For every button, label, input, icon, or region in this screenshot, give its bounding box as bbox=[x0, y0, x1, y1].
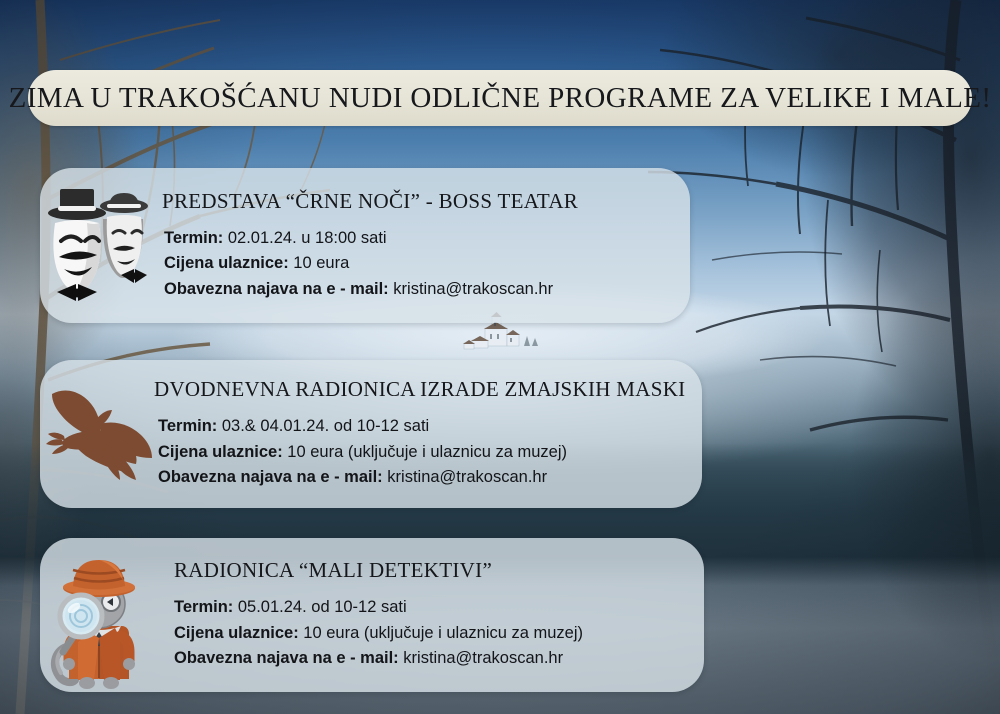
detail-value: 03.& 04.01.24. od 10-12 sati bbox=[222, 417, 429, 435]
detail-label: Cijena ulaznice: bbox=[164, 254, 289, 272]
detail-value: 05.01.24. od 10-12 sati bbox=[238, 598, 407, 616]
poster-title: ZIMA U TRAKOŠĆANU NUDI ODLIČNE PROGRAME … bbox=[9, 82, 992, 115]
program-details: Termin: 03.& 04.01.24. od 10-12 sati Cij… bbox=[158, 414, 686, 491]
detail-label: Obavezna najava na e - mail: bbox=[174, 649, 399, 667]
program-detail-line: Termin: 05.01.24. od 10-12 sati bbox=[174, 595, 688, 621]
theatre-masks-icon bbox=[40, 168, 158, 323]
program-detail-line: Cijena ulaznice: 10 eura bbox=[164, 251, 674, 277]
detective-cat-icon bbox=[40, 538, 158, 692]
program-details: Termin: 05.01.24. od 10-12 sati Cijena u… bbox=[174, 595, 688, 672]
program-detail-line: Cijena ulaznice: 10 eura (uključuje i ul… bbox=[158, 440, 686, 466]
program-card-body: RADIONICA “MALI DETEKTIVI” Termin: 05.01… bbox=[158, 558, 704, 672]
program-card-body: PREDSTAVA “ČRNE NOČI” - BOSS TEATAR Term… bbox=[158, 189, 690, 303]
detail-value: kristina@trakoscan.hr bbox=[387, 468, 547, 486]
detail-label: Obavezna najava na e - mail: bbox=[164, 280, 389, 298]
program-heading: RADIONICA “MALI DETEKTIVI” bbox=[174, 558, 688, 583]
program-detail-line: Cijena ulaznice: 10 eura (uključuje i ul… bbox=[174, 621, 688, 647]
program-card-dragon-masks: DVODNEVNA RADIONICA IZRADE ZMAJSKIH MASK… bbox=[40, 360, 702, 508]
detail-value: 02.01.24. u 18:00 sati bbox=[228, 229, 387, 247]
detail-value: 10 eura bbox=[293, 254, 349, 272]
dragon-icon bbox=[40, 360, 158, 508]
detail-label: Termin: bbox=[158, 417, 217, 435]
program-detail-line: Obavezna najava na e - mail: kristina@tr… bbox=[164, 277, 674, 303]
detail-label: Termin: bbox=[164, 229, 223, 247]
program-heading: DVODNEVNA RADIONICA IZRADE ZMAJSKIH MASK… bbox=[154, 377, 686, 402]
program-detail-line: Obavezna najava na e - mail: kristina@tr… bbox=[158, 465, 686, 491]
detail-label: Termin: bbox=[174, 598, 233, 616]
detail-value: 10 eura (uključuje i ulaznicu za muzej) bbox=[303, 624, 583, 642]
program-card-body: DVODNEVNA RADIONICA IZRADE ZMAJSKIH MASK… bbox=[158, 377, 702, 491]
detail-value: 10 eura (uključuje i ulaznicu za muzej) bbox=[287, 443, 567, 461]
detail-value: kristina@trakoscan.hr bbox=[393, 280, 553, 298]
program-card-theatre: PREDSTAVA “ČRNE NOČI” - BOSS TEATAR Term… bbox=[40, 168, 690, 323]
program-card-little-detectives: RADIONICA “MALI DETEKTIVI” Termin: 05.01… bbox=[40, 538, 704, 692]
detail-value: kristina@trakoscan.hr bbox=[403, 649, 563, 667]
detail-label: Cijena ulaznice: bbox=[174, 624, 299, 642]
winter-program-poster: ZIMA U TRAKOŠĆANU NUDI ODLIČNE PROGRAME … bbox=[0, 0, 1000, 714]
program-detail-line: Obavezna najava na e - mail: kristina@tr… bbox=[174, 646, 688, 672]
detail-label: Obavezna najava na e - mail: bbox=[158, 468, 383, 486]
program-details: Termin: 02.01.24. u 18:00 sati Cijena ul… bbox=[164, 226, 674, 303]
program-detail-line: Termin: 02.01.24. u 18:00 sati bbox=[164, 226, 674, 252]
poster-title-banner: ZIMA U TRAKOŠĆANU NUDI ODLIČNE PROGRAME … bbox=[28, 70, 972, 126]
program-detail-line: Termin: 03.& 04.01.24. od 10-12 sati bbox=[158, 414, 686, 440]
program-heading: PREDSTAVA “ČRNE NOČI” - BOSS TEATAR bbox=[162, 189, 674, 214]
detail-label: Cijena ulaznice: bbox=[158, 443, 283, 461]
